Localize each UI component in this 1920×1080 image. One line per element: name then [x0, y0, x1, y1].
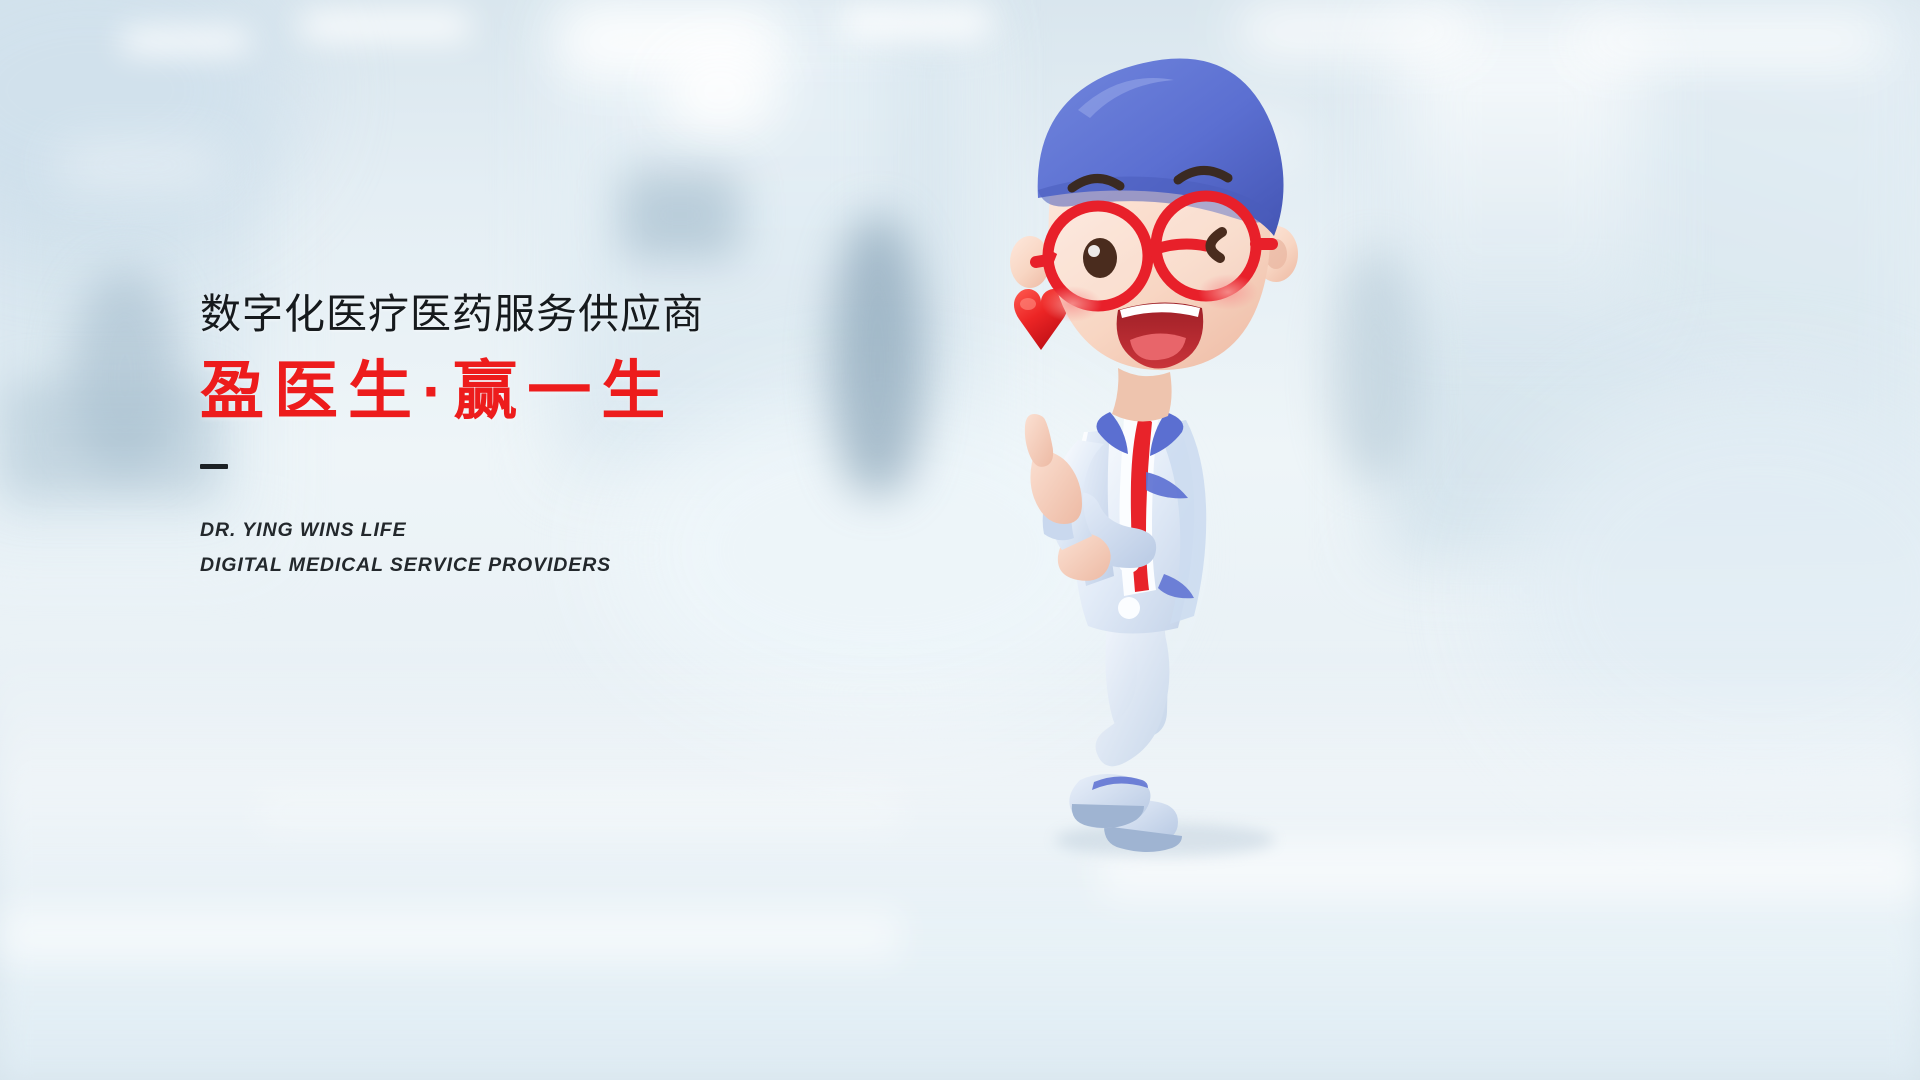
background-doorframe [1400, 20, 1640, 320]
mascot-pointing-finger [1025, 414, 1053, 467]
floor-streak-3 [260, 794, 900, 830]
banner-stage: 数字化医疗医药服务供应商 盈医生·赢一生 DR. YING WINS LIFE … [0, 0, 1920, 1080]
ceiling-lamp-1 [120, 30, 250, 52]
subtitle-english-line1: DR. YING WINS LIFE [200, 513, 960, 548]
subtitle-block: DR. YING WINS LIFE DIGITAL MEDICAL SERVI… [200, 513, 960, 582]
ceiling-lamp-4 [660, 46, 780, 136]
headline-chinese-sub: 数字化医疗医药服务供应商 [200, 292, 960, 336]
ceiling-lamp-7 [1580, 20, 1880, 60]
ceiling-lamp-5 [840, 10, 990, 36]
mascot-eye-highlight [1088, 245, 1100, 257]
mascot-glasses-temple-left-arm [1036, 260, 1048, 262]
doctor-mascot [960, 40, 1380, 860]
mascot-blush-left [1042, 286, 1102, 322]
ceiling-lamp-2 [300, 14, 470, 38]
mascot-blush-right [1198, 274, 1258, 310]
headline-block: 数字化医疗医药服务供应商 盈医生·赢一生 DR. YING WINS LIFE … [200, 292, 960, 583]
headline-chinese-main: 盈医生·赢一生 [200, 358, 960, 426]
mascot-neck [1112, 368, 1172, 422]
mascot-eye-open [1083, 238, 1117, 278]
mascot-coat-button-2 [1118, 597, 1140, 619]
background-counter [620, 170, 740, 260]
ceiling-lamp-8 [60, 150, 220, 180]
background-furniture [0, 380, 220, 500]
headline-divider [200, 464, 228, 469]
subtitle-english-line2: DIGITAL MEDICAL SERVICE PROVIDERS [200, 548, 960, 583]
floor-streak-1 [0, 910, 900, 960]
